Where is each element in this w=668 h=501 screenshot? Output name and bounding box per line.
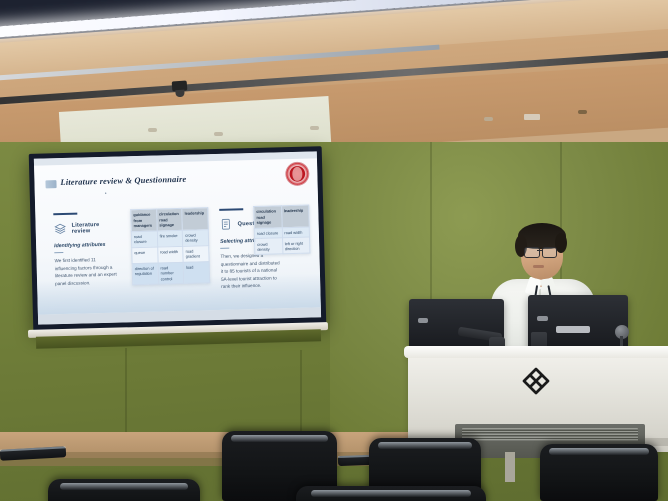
subheading-rule — [54, 252, 63, 253]
table-cell: road closure — [131, 231, 157, 248]
seat-backrest-highlight — [60, 483, 188, 490]
table-cell: road gradient — [183, 245, 209, 262]
ceiling-fitting — [214, 132, 223, 136]
cabinet-leg — [505, 452, 515, 482]
table-header-row: guidance from managers circulation road … — [131, 208, 209, 232]
column-rule — [53, 213, 77, 216]
seat-backrest-highlight — [378, 442, 472, 449]
projection-screen: Literature review & Questionnaire • — [29, 146, 327, 332]
monitor-vesa-plate — [418, 318, 428, 323]
table-header-cell: circulation road signage — [156, 208, 182, 230]
presentation-slide: Literature review & Questionnaire • — [34, 158, 321, 314]
presenter-glasses-lens — [524, 247, 540, 258]
monitor-port-strip — [556, 326, 590, 333]
table-cell: crowd density — [255, 238, 283, 255]
presenter-glasses-bridge — [537, 250, 543, 251]
lecture-seat — [296, 486, 486, 501]
column-heading: Literature review — [72, 221, 120, 234]
ceiling-vent — [524, 114, 540, 120]
column-body-text: Then, we designed a questionnaire and di… — [220, 251, 283, 290]
attributes-table-right: circulation road signage leadership road… — [253, 205, 310, 256]
attributes-table-left: guidance from managers circulation road … — [130, 207, 210, 285]
seat-backrest-highlight — [231, 435, 328, 442]
table-cell: road closure — [254, 227, 282, 238]
table-cell: road width — [157, 246, 183, 263]
university-seal-icon — [286, 163, 309, 186]
polyu-wordmark-icon — [45, 180, 56, 188]
layers-icon — [54, 222, 67, 235]
slide-column-literature-review: Literature review Identifying attributes… — [53, 212, 121, 288]
monitor-vesa-plate — [537, 316, 548, 321]
table-cell: crowd density — [183, 229, 209, 246]
ceiling-fitting — [310, 126, 319, 130]
seat-backrest-highlight — [549, 448, 648, 455]
podium-surface — [404, 346, 668, 358]
ceiling-fitting — [578, 110, 587, 114]
table-row: crowd density left or right direction — [255, 237, 310, 255]
presenter-glasses-lens — [542, 247, 557, 258]
table-header-row: circulation road signage leadership — [254, 205, 310, 228]
slide-title: Literature review & Questionnaire — [60, 175, 186, 187]
table-cell: left or right direction — [282, 237, 310, 254]
presenter-mouth — [533, 265, 544, 268]
lecture-hall-photo: Literature review & Questionnaire • — [0, 0, 668, 501]
column-heading-row: Literature review — [54, 221, 120, 236]
table-cell: queue — [132, 247, 158, 264]
cabinet-vent-grill — [462, 428, 638, 441]
screen-surface: Literature review & Questionnaire • — [34, 151, 321, 324]
slide-bullet-marker: • — [105, 191, 109, 195]
subheading-rule — [220, 248, 229, 249]
table-header-cell: leadership — [182, 208, 208, 230]
column-subheading: Identifying attributes — [54, 242, 120, 250]
seat-backrest-highlight — [311, 490, 471, 497]
lecture-seat — [48, 479, 200, 501]
ceiling — [0, 0, 668, 142]
column-body-text: We first identified 11 influencing facto… — [54, 256, 117, 287]
wall-seam — [125, 348, 127, 443]
form-document-icon — [219, 218, 232, 231]
table-cell: road number control — [158, 262, 184, 284]
ceiling-projector-icon — [172, 80, 188, 91]
table-cell: load — [183, 262, 209, 284]
table-header-cell: guidance from managers — [131, 209, 157, 231]
table-cell: direction of regulation — [132, 263, 158, 285]
ceiling-fitting — [148, 128, 157, 132]
table-row: direction of regulation road number cont… — [132, 262, 210, 286]
table-header-cell: circulation road signage — [254, 206, 282, 228]
lecture-seat — [540, 444, 658, 501]
table-cell: road width — [282, 227, 310, 238]
table-header-cell: leadership — [281, 205, 309, 227]
table-cell: fire smoke — [157, 230, 183, 247]
ceiling-fitting — [484, 117, 493, 121]
polyu-knot-logo-icon — [517, 366, 555, 396]
column-rule — [219, 208, 243, 211]
